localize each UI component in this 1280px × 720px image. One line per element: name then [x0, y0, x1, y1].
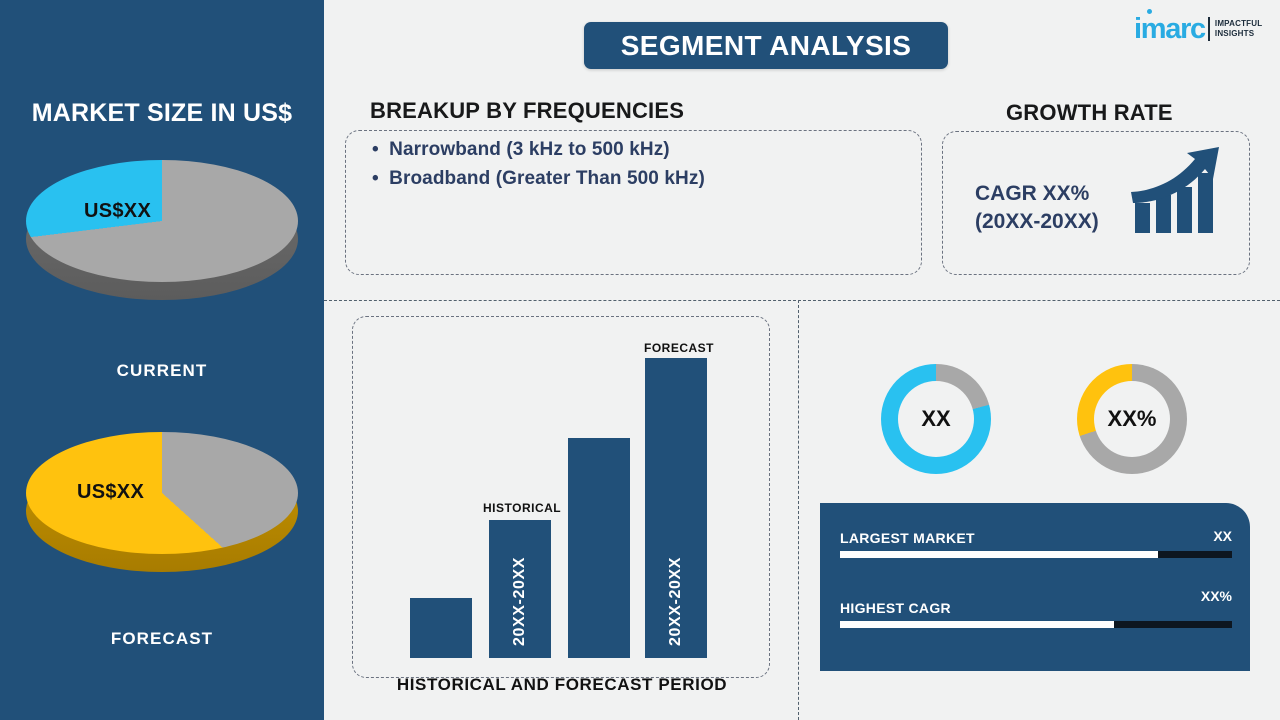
cagr-line1: CAGR XX%: [975, 180, 1099, 208]
page-title-chip: SEGMENT ANALYSIS: [584, 22, 948, 69]
stat-progress-fill: [840, 551, 1158, 558]
page-title: SEGMENT ANALYSIS: [621, 30, 912, 62]
logo-divider: [1208, 17, 1210, 41]
bullet-icon: •: [372, 168, 379, 189]
vertical-divider: [798, 300, 799, 720]
horizontal-divider: [324, 300, 1280, 301]
current-pie-slice-label: US$XX: [84, 200, 151, 223]
bar-2: 20XX-20XX: [489, 520, 551, 658]
list-item-label: Narrowband (3 kHz to 500 kHz): [389, 139, 670, 160]
stat-progress-track: [840, 551, 1232, 558]
forecast-annotation: FORECAST: [644, 341, 714, 355]
current-pie-group: US$XX: [0, 160, 324, 310]
units-donut-value: XX: [881, 364, 991, 474]
share-donut: XX%: [1077, 364, 1187, 474]
logo-tagline: IMPACTFUL INSIGHTS: [1215, 19, 1262, 39]
units-donut: XX: [881, 364, 991, 474]
market-size-sidebar: MARKET SIZE IN US$ US$XX CURRENT US$XX F…: [0, 0, 324, 720]
breakup-list: • Narrowband (3 kHz to 500 kHz) • Broadb…: [372, 139, 892, 197]
bar-1: [410, 598, 472, 658]
stat-value: XX: [1213, 528, 1232, 544]
logo-dot-icon: [1147, 9, 1152, 14]
forecast-pie-group: US$XX: [0, 432, 324, 582]
breakup-heading: BREAKUP BY FREQUENCIES: [370, 98, 684, 124]
stat-value: XX%: [1201, 588, 1232, 604]
share-donut-value: XX%: [1077, 364, 1187, 474]
current-pie-top: [26, 160, 298, 282]
bar-2-label: 20XX-20XX: [511, 557, 529, 646]
historical-annotation: HISTORICAL: [483, 501, 561, 515]
cagr-value: CAGR XX% (20XX-20XX): [975, 180, 1099, 237]
forecast-pie-top: [26, 432, 298, 554]
bar-4: 20XX-20XX: [645, 358, 707, 658]
forecast-pie-chart: US$XX: [26, 432, 298, 582]
forecast-pie-slice-label: US$XX: [77, 481, 144, 504]
sidebar-title: MARKET SIZE IN US$: [0, 99, 324, 128]
bar-3: [568, 438, 630, 658]
current-pie-chart: US$XX: [26, 160, 298, 310]
list-item: • Narrowband (3 kHz to 500 kHz): [372, 139, 892, 161]
imarc-logo: imarc IMPACTFUL INSIGHTS: [1134, 12, 1262, 46]
list-item-label: Broadband (Greater Than 500 kHz): [389, 168, 705, 189]
cagr-line2: (20XX-20XX): [975, 208, 1099, 236]
stat-progress-track: [840, 621, 1232, 628]
logo-wordmark-text: imarc: [1134, 13, 1205, 45]
growth-rate-heading: GROWTH RATE: [1006, 100, 1173, 126]
forecast-pie-caption: FORECAST: [0, 629, 324, 649]
bullet-icon: •: [372, 139, 379, 160]
growth-arrow-chart-icon: [1129, 145, 1225, 246]
logo-tagline-line1: IMPACTFUL: [1215, 19, 1262, 29]
stat-label: LARGEST MARKET: [840, 530, 975, 546]
list-item: • Broadband (Greater Than 500 kHz): [372, 168, 892, 190]
bar-4-label: 20XX-20XX: [667, 557, 685, 646]
key-stats-card: LARGEST MARKET XX HIGHEST CAGR XX%: [820, 503, 1250, 671]
stat-progress-fill: [840, 621, 1114, 628]
logo-wordmark: imarc: [1134, 15, 1205, 44]
logo-tagline-line2: INSIGHTS: [1215, 29, 1262, 39]
current-pie-caption: CURRENT: [0, 361, 324, 381]
stat-label: HIGHEST CAGR: [840, 600, 951, 616]
infographic-root: MARKET SIZE IN US$ US$XX CURRENT US$XX F…: [0, 0, 1280, 720]
period-chart-caption: HISTORICAL AND FORECAST PERIOD: [352, 675, 772, 695]
